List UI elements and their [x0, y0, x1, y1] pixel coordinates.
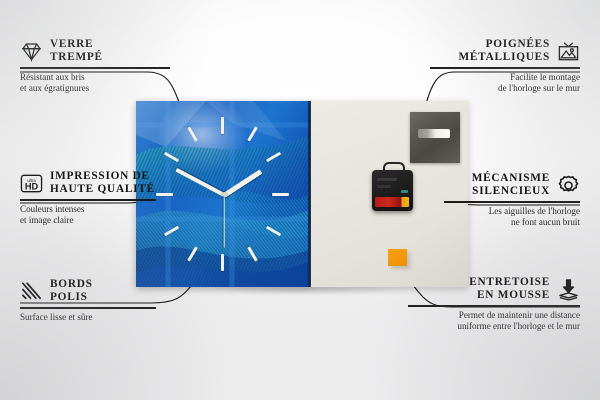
infographic-canvas: VERRE TREMPÉ Résistant aux bris et aux é… — [0, 0, 600, 400]
callout-divider — [20, 199, 156, 200]
product-image — [136, 101, 468, 287]
movement-hanging-loop — [383, 162, 405, 176]
callout-impression-haute-qualite[interactable]: ultra HD IMPRESSION DE HAUTE QUALITÉ Cou… — [20, 170, 156, 226]
picture-hanger-icon — [557, 40, 580, 63]
callout-subtitle-line1: Les aiguilles de l'horloge — [444, 206, 580, 217]
callout-poignees-metalliques[interactable]: POIGNÉES MÉTALLIQUES Facilite le montage… — [430, 38, 580, 94]
quartz-movement-box — [372, 170, 413, 211]
callout-entretoise-en-mousse[interactable]: ENTRETOISE EN MOUSSE Permet de maintenir… — [408, 276, 580, 332]
movement-label-accent — [401, 190, 408, 193]
callout-header: POIGNÉES MÉTALLIQUES — [430, 38, 580, 64]
callout-title-line2: EN MOUSSE — [408, 289, 550, 302]
callout-subtitle-line2: uniforme entre l'horloge et le mur — [408, 321, 580, 332]
ultra-hd-large-text: HD — [25, 181, 39, 191]
battery — [375, 197, 409, 207]
movement-label-line-2 — [377, 185, 391, 188]
callout-title-line1: MÉCANISME — [472, 172, 550, 185]
clock-tick-12 — [221, 117, 224, 134]
callout-subtitle-line1: Résistant aux bris — [20, 72, 170, 83]
callout-title-line1: IMPRESSION DE — [50, 170, 155, 183]
callout-title-line1: ENTRETOISE — [408, 276, 550, 289]
callout-divider — [20, 67, 170, 68]
callout-title-line2: TREMPÉ — [50, 51, 103, 64]
hanger-slot — [418, 129, 450, 138]
callout-subtitle-line2: ne font aucun bruit — [444, 217, 580, 228]
callout-verre-trempe[interactable]: VERRE TREMPÉ Résistant aux bris et aux é… — [20, 38, 170, 94]
clock-second-hand — [223, 195, 224, 247]
callout-bords-polis[interactable]: BORDS POLIS Surface lisse et sûre — [20, 278, 156, 323]
diagonal-lines-icon — [20, 280, 43, 303]
callout-title-line1: BORDS — [50, 278, 93, 291]
clock-tick-6 — [221, 254, 224, 271]
callout-divider — [20, 307, 156, 308]
callout-header: BORDS POLIS — [20, 278, 156, 304]
callout-header: ENTRETOISE EN MOUSSE — [408, 276, 580, 302]
callout-header: ultra HD IMPRESSION DE HAUTE QUALITÉ — [20, 170, 156, 196]
arrow-down-stack-icon — [557, 278, 580, 301]
callout-title-line2: POLIS — [50, 291, 93, 304]
callout-divider — [408, 305, 580, 306]
callout-subtitle-line1: Couleurs intenses — [20, 204, 156, 215]
callout-subtitle-line1: Permet de maintenir une distance — [408, 310, 580, 321]
clock-front-panel — [136, 101, 311, 287]
callout-title-line2: SILENCIEUX — [472, 185, 550, 198]
callout-subtitle-line2: et aux égratignures — [20, 83, 170, 94]
movement-label-line-1 — [377, 178, 397, 181]
callout-divider — [430, 67, 580, 68]
foam-spacer-pad — [388, 249, 407, 266]
clock-hand-hub — [222, 192, 227, 197]
callout-divider — [444, 201, 580, 202]
callout-subtitle-line2: et image claire — [20, 215, 156, 226]
callout-title-line1: POIGNÉES — [458, 38, 550, 51]
metal-hanger-bracket — [410, 112, 460, 163]
callout-mecanisme-silencieux[interactable]: MÉCANISME SILENCIEUX Les aiguilles de l'… — [444, 172, 580, 228]
gear-icon — [557, 174, 580, 197]
callout-title-line2: MÉTALLIQUES — [458, 51, 550, 64]
callout-subtitle-line2: de l'horloge sur le mur — [430, 83, 580, 94]
clock-tick-3 — [272, 193, 289, 196]
callout-header: VERRE TREMPÉ — [20, 38, 170, 64]
callout-title-line2: HAUTE QUALITÉ — [50, 183, 155, 196]
callout-header: MÉCANISME SILENCIEUX — [444, 172, 580, 198]
diamond-icon — [20, 40, 43, 63]
callout-subtitle-line1: Surface lisse et sûre — [20, 312, 156, 323]
callout-title-line1: VERRE — [50, 38, 103, 51]
ultra-hd-icon: ultra HD — [20, 172, 43, 195]
clock-tick-9 — [156, 193, 173, 196]
callout-subtitle-line1: Facilite le montage — [430, 72, 580, 83]
